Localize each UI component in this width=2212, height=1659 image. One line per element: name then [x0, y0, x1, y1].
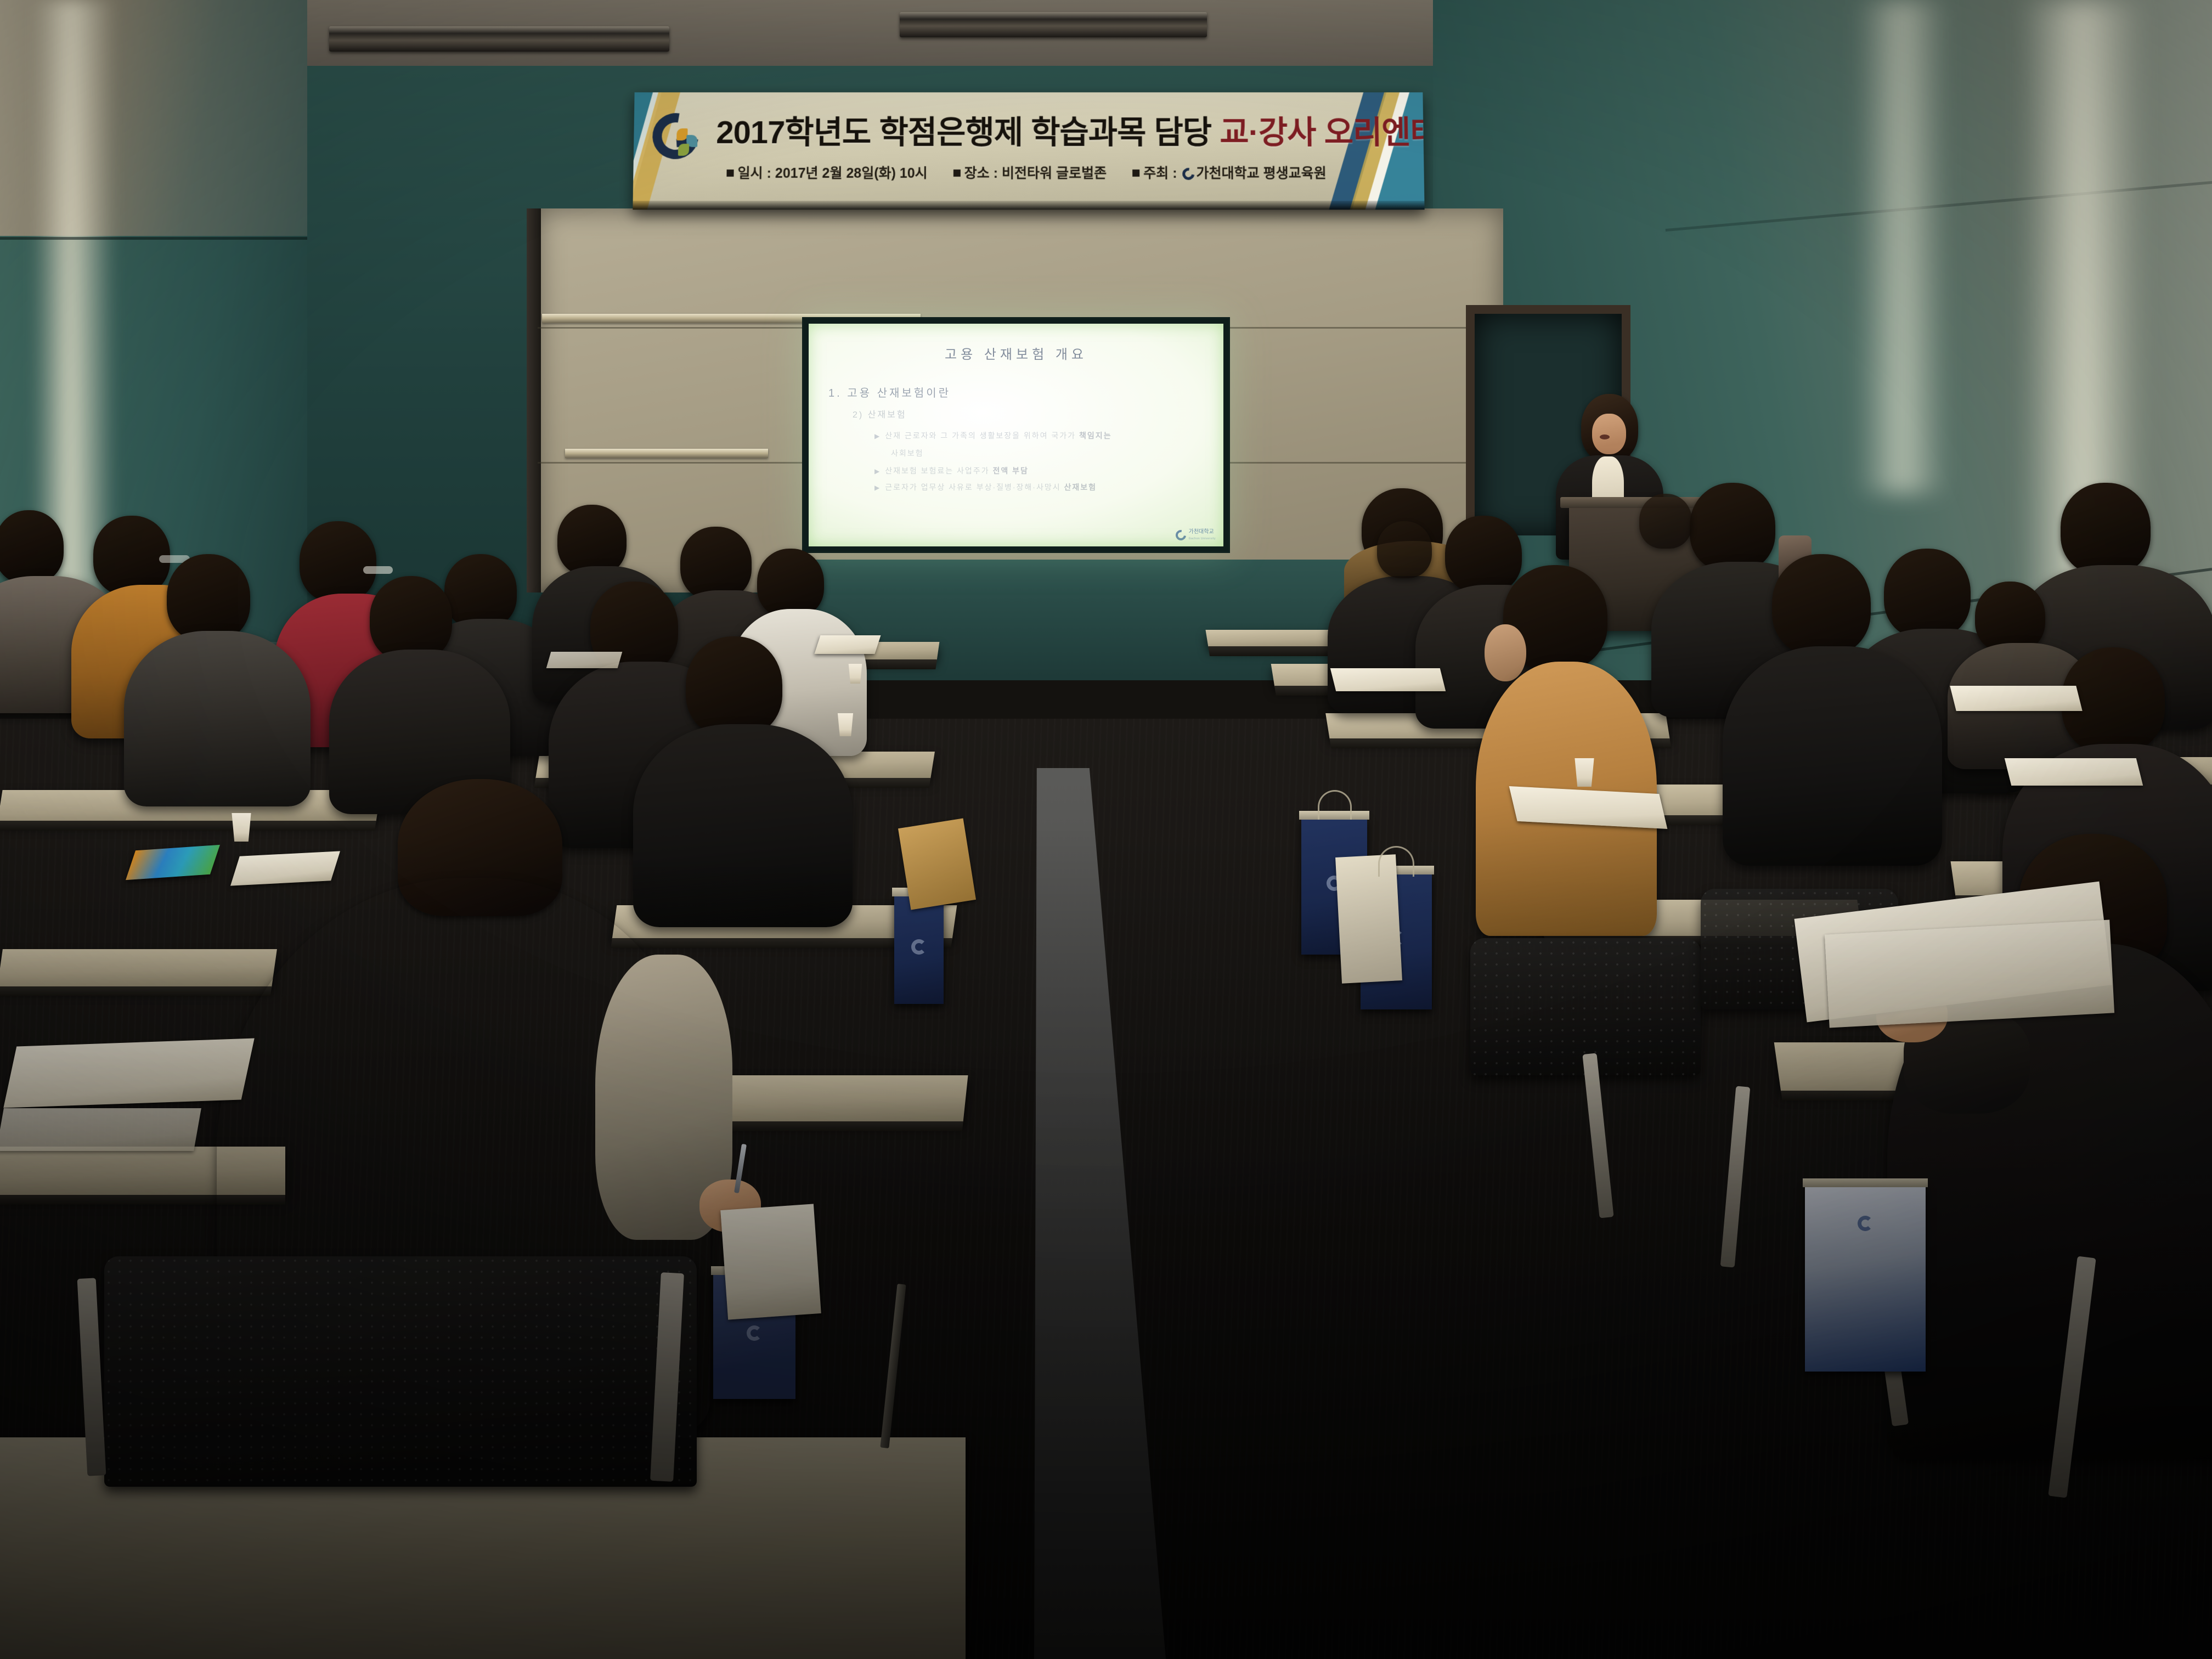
ceiling-air-vent: [900, 12, 1207, 37]
attendee-head: [686, 636, 782, 737]
handout-paper: [230, 851, 340, 885]
slide-heading: 1. 고용 산재보험이란: [828, 384, 951, 400]
slide-bullet-text: 산재보험 보험료는 사업주가: [885, 466, 989, 475]
panel-trim-strip: [565, 449, 768, 458]
handout-paper: [720, 1204, 821, 1319]
banner-date-label: 일시 :: [737, 166, 771, 181]
triangle-bullet-icon: ▶: [874, 467, 881, 475]
banner-date-value: 2017년 2월 28일(화) 10시: [775, 166, 928, 181]
slide-bullet-continuation: 사회보험: [891, 448, 924, 459]
banner-title: 2017학년도 학점은행제 학습과목 담당 교·강사 오리엔테이션: [716, 106, 1336, 153]
seminar-room-photo: 2017학년도 학점은행제 학습과목 담당 교·강사 오리엔테이션 일시 : 2…: [0, 0, 2212, 1659]
bullet-square-icon: [1132, 170, 1139, 177]
slide-bullet-bold: 책임지는: [1079, 431, 1112, 440]
event-banner: 2017학년도 학점은행제 학습과목 담당 교·강사 오리엔테이션 일시 : 2…: [633, 92, 1424, 210]
attendee: [340, 576, 505, 812]
slide-bullet: ▶근로자가 업무상 사유로 부상·질병·장해·사망시 산재보험: [874, 482, 1097, 493]
banner-place: 장소 : 비전타워 글로벌존: [953, 166, 1107, 181]
handout-paper: [2005, 758, 2143, 786]
banner-host-value: 가천대학교 평생교육원: [1196, 166, 1326, 181]
handout-paper: [0, 1108, 201, 1151]
handout-paper: [1330, 668, 1446, 691]
attendee-head: [0, 510, 64, 584]
wall-seam: [0, 237, 307, 240]
handout-paper: [546, 652, 623, 668]
banner-place-value: 비전타워 글로벌존: [1002, 166, 1107, 181]
banner-host: 주최 : 가천대학교 평생교육원: [1132, 166, 1327, 181]
attendee-head: [757, 549, 824, 618]
slide-bullet: ▶산재보험 보험료는 사업주가 전액 부담: [874, 465, 1029, 476]
banner-subtitle: 일시 : 2017년 2월 28일(화) 10시 장소 : 비전타워 글로벌존 …: [715, 162, 1336, 182]
eyeglasses-icon: [363, 566, 393, 574]
presenter-mouth: [1600, 435, 1610, 439]
banner-title-accent: 교·강사 오리엔테이션: [1220, 115, 1425, 150]
attendee-head: [167, 554, 250, 642]
banner-place-label: 장소 :: [964, 166, 998, 181]
right-wall-light-wash: [1855, 0, 1949, 494]
gift-bag: [1805, 1185, 1926, 1372]
presenter-face: [1592, 414, 1626, 454]
slide-logo-en: Gachon University: [1189, 537, 1216, 540]
slide-bullet-bold: 산재보험: [1064, 483, 1097, 492]
bullet-square-icon: [726, 170, 733, 177]
bag-handle: [1318, 790, 1352, 820]
attendee-head: [1639, 494, 1692, 549]
handout-paper: [3, 1039, 254, 1108]
slide-title: 고용 산재보험 개요: [809, 343, 1223, 363]
gachon-g-logo-icon: [652, 113, 703, 163]
banner-title-black: 2017학년도 학점은행제 학습과목 담당: [716, 115, 1211, 150]
bullet-square-icon: [953, 170, 961, 177]
slide-footer-logo: 가천대학교 Gachon University: [1176, 529, 1216, 541]
chair: [104, 1256, 697, 1487]
slide-subheading: 2) 산재보험: [853, 407, 907, 420]
attendee-head: [370, 576, 452, 662]
projection-screen-frame: 고용 산재보험 개요 1. 고용 산재보험이란 2) 산재보험 ▶산재 근로자와…: [802, 317, 1230, 553]
projection-screen: 고용 산재보험 개요 1. 고용 산재보험이란 2) 산재보험 ▶산재 근로자와…: [809, 324, 1223, 546]
attendee-jacket: [124, 631, 311, 806]
handout-paper: [1950, 686, 2082, 711]
attendee-head: [1377, 521, 1432, 578]
slide-bullet-text: 사회보험: [891, 449, 924, 458]
attendee: [1361, 521, 1459, 653]
attendee-jacket: [1723, 646, 1942, 866]
slide-bullet-bold: 전액 부담: [992, 466, 1028, 475]
gachon-mini-logo-icon: [1182, 168, 1194, 180]
banner-date: 일시 : 2017년 2월 28일(화) 10시: [726, 166, 927, 181]
slide-bullet-text: 근로자가 업무상 사유로 부상·질병·장해·사망시: [885, 483, 1060, 492]
attendee: [137, 554, 302, 806]
attendee: [1734, 554, 1931, 861]
gachon-g-logo-icon: [1176, 530, 1186, 540]
attendee-hand: [1485, 624, 1526, 681]
handout-paper: [814, 635, 881, 654]
attendee-head: [557, 505, 627, 576]
slide-logo-ko: 가천대학교: [1189, 529, 1214, 535]
banner-host-label: 주최 :: [1143, 166, 1177, 181]
attendee-head: [1975, 582, 2045, 653]
attendee: [1624, 494, 1723, 625]
attendee-head: [1772, 554, 1871, 656]
slide-bullet-text: 산재 근로자와 그 가족의 생활보장을 위하여 국가가: [885, 431, 1076, 440]
slide-bullet: ▶산재 근로자와 그 가족의 생활보장을 위하여 국가가 책임지는: [874, 430, 1111, 441]
attendee-head: [2061, 483, 2151, 575]
ceiling-air-vent: [329, 26, 669, 52]
giveaway-packet: [898, 819, 976, 910]
gift-bag: [894, 894, 944, 1004]
handout-paper: [1825, 920, 2114, 1028]
triangle-bullet-icon: ▶: [874, 432, 881, 440]
triangle-bullet-icon: ▶: [874, 484, 881, 492]
